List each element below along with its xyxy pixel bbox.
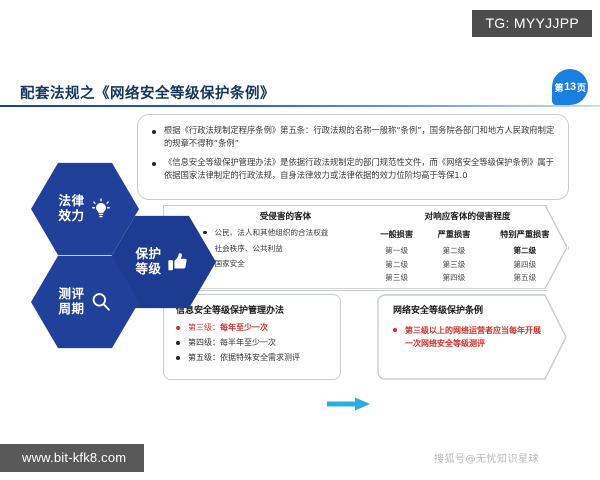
regulation-measures-title: 网络安全等级保护条例 [393, 303, 547, 316]
bullet-dot-icon [152, 130, 156, 134]
damage-cell-r2c2: 第五级 [483, 271, 567, 285]
thumbs-up-icon [167, 251, 189, 273]
page-number-badge: 第 13 页 [552, 69, 588, 105]
sohu-watermark: 搜狐号@无忧知识星球 [434, 450, 539, 465]
page-title: 配套法规之《网络安全等级保护条例》 [20, 82, 275, 103]
flow-arrow-icon [327, 397, 371, 411]
measure-1-level: 第三级： [188, 323, 220, 332]
damage-header-severe: 严重损害 [425, 227, 482, 244]
legal-basis-box: 根据《行政法规制定程序条例》第五条：行政法规的名称一般称“条例”，国务院各部门和… [137, 114, 569, 200]
lightbulb-icon [90, 198, 112, 220]
bullet-dot-icon [176, 326, 180, 330]
page-badge-prefix: 第 [554, 81, 563, 94]
list-item: 第四级：每半年至少一次 [176, 337, 334, 348]
measure-3: 第五级：依据特殊安全需求测评 [188, 352, 300, 363]
info-security-measures-panel: 信息安全等级保护管理办法 第三级：每年至少一次 第四级：每半年至少一次 第五级：… [163, 294, 341, 380]
table-row: 第三级 第四级 第五级 [368, 271, 567, 285]
list-item: 公民、法人和其他组织的合法权益 [203, 227, 368, 238]
damage-cell-r1c2: 第四级 [483, 258, 567, 272]
damage-cell-r0c2: 第二级 [483, 244, 567, 258]
list-item: 第五级：依据特殊安全需求测评 [176, 352, 334, 363]
damage-cell-r0c1: 第二级 [425, 244, 482, 258]
hexagon-evaluation-cycle-label: 测评 周期 [58, 287, 84, 318]
damage-header-general: 一般损害 [368, 227, 425, 244]
damage-cell-r2c1: 第四级 [425, 271, 482, 285]
bullet-dot-icon [176, 356, 180, 360]
hexagon-protection-level-label: 保护 等级 [135, 247, 161, 278]
title-underline-rule [0, 105, 600, 107]
table-row: 第二级 第三级 第四级 [368, 258, 567, 272]
measure-1-frequency: 每年至少一次 [220, 323, 268, 332]
table-header-row: 一般损害 严重损害 特别严重损害 [368, 227, 567, 244]
hexagon-legal-effect-label: 法律 效力 [58, 194, 84, 225]
list-item: 国家安全 [203, 258, 368, 269]
bullet-dot-icon [393, 328, 397, 332]
damage-cell-r1c1: 第三级 [425, 258, 482, 272]
damage-cell-r2c0: 第三级 [368, 271, 425, 285]
regulation-measure-1: 第三级以上的网络运营者应当每年开展一次网络安全等级测评 [405, 324, 547, 350]
page-badge-suffix: 页 [577, 81, 586, 94]
protection-level-content: 受侵害的客体 公民、法人和其他组织的合法权益 社会秩序、公共利益 国家安全 对响… [163, 205, 567, 289]
damage-cell-r0c0: 第一级 [368, 244, 425, 258]
table-row: 第一级 第二级 第二级 [368, 244, 567, 258]
list-item: 根据《行政法规制定程序条例》第五条：行政法规的名称一般称“条例”，国务院各部门和… [152, 124, 558, 150]
list-item: 第三级以上的网络运营者应当每年开展一次网络安全等级测评 [393, 324, 547, 350]
damage-degree-column: 对响应客体的侵害程度 一般损害 严重损害 特别严重损害 第一级 第二级 第二级 [368, 205, 567, 289]
affected-object-3: 国家安全 [215, 258, 245, 269]
affected-object-1: 公民、法人和其他组织的合法权益 [215, 227, 329, 238]
damage-degree-header: 对响应客体的侵害程度 [368, 210, 567, 222]
legal-basis-bullet-1: 根据《行政法规制定程序条例》第五条：行政法规的名称一般称“条例”，国务院各部门和… [164, 124, 558, 150]
affected-object-2: 社会秩序、公共利益 [215, 243, 283, 254]
list-item: 社会秩序、公共利益 [203, 243, 368, 254]
regulation-measures-panel: 网络安全等级保护条例 第三级以上的网络运营者应当每年开展一次网络安全等级测评 [377, 294, 567, 380]
tg-watermark-chip: TG: MYYJJPP [472, 10, 592, 37]
bullet-dot-icon [152, 162, 156, 166]
slide-canvas: 配套法规之《网络安全等级保护条例》 第 13 页 根据《行政法规制定程序条例》第… [0, 66, 600, 420]
affected-object-header: 受侵害的客体 [203, 210, 368, 222]
page-badge-number: 13 [564, 81, 576, 93]
site-url-watermark: www.bit-kfk8.com [0, 444, 144, 472]
measure-2: 第四级：每半年至少一次 [188, 337, 276, 348]
list-item: 第三级：每年至少一次 [176, 322, 334, 333]
bullet-dot-icon [176, 341, 180, 345]
damage-level-table: 一般损害 严重损害 特别严重损害 第一级 第二级 第二级 第二级 第三级 第四级 [368, 227, 567, 285]
damage-header-especially-severe: 特别严重损害 [483, 227, 567, 244]
search-icon [90, 291, 112, 313]
list-item: 《信息安全等级保护管理办法》是依据行政法规制定的部门规范性文件，而《网络安全等级… [152, 156, 558, 182]
bullet-dot-icon [203, 231, 207, 235]
damage-cell-r1c0: 第二级 [368, 258, 425, 272]
info-security-measures-title: 信息安全等级保护管理办法 [176, 303, 334, 316]
legal-basis-bullet-2: 《信息安全等级保护管理办法》是依据行政法规制定的部门规范性文件，而《网络安全等级… [164, 156, 558, 182]
